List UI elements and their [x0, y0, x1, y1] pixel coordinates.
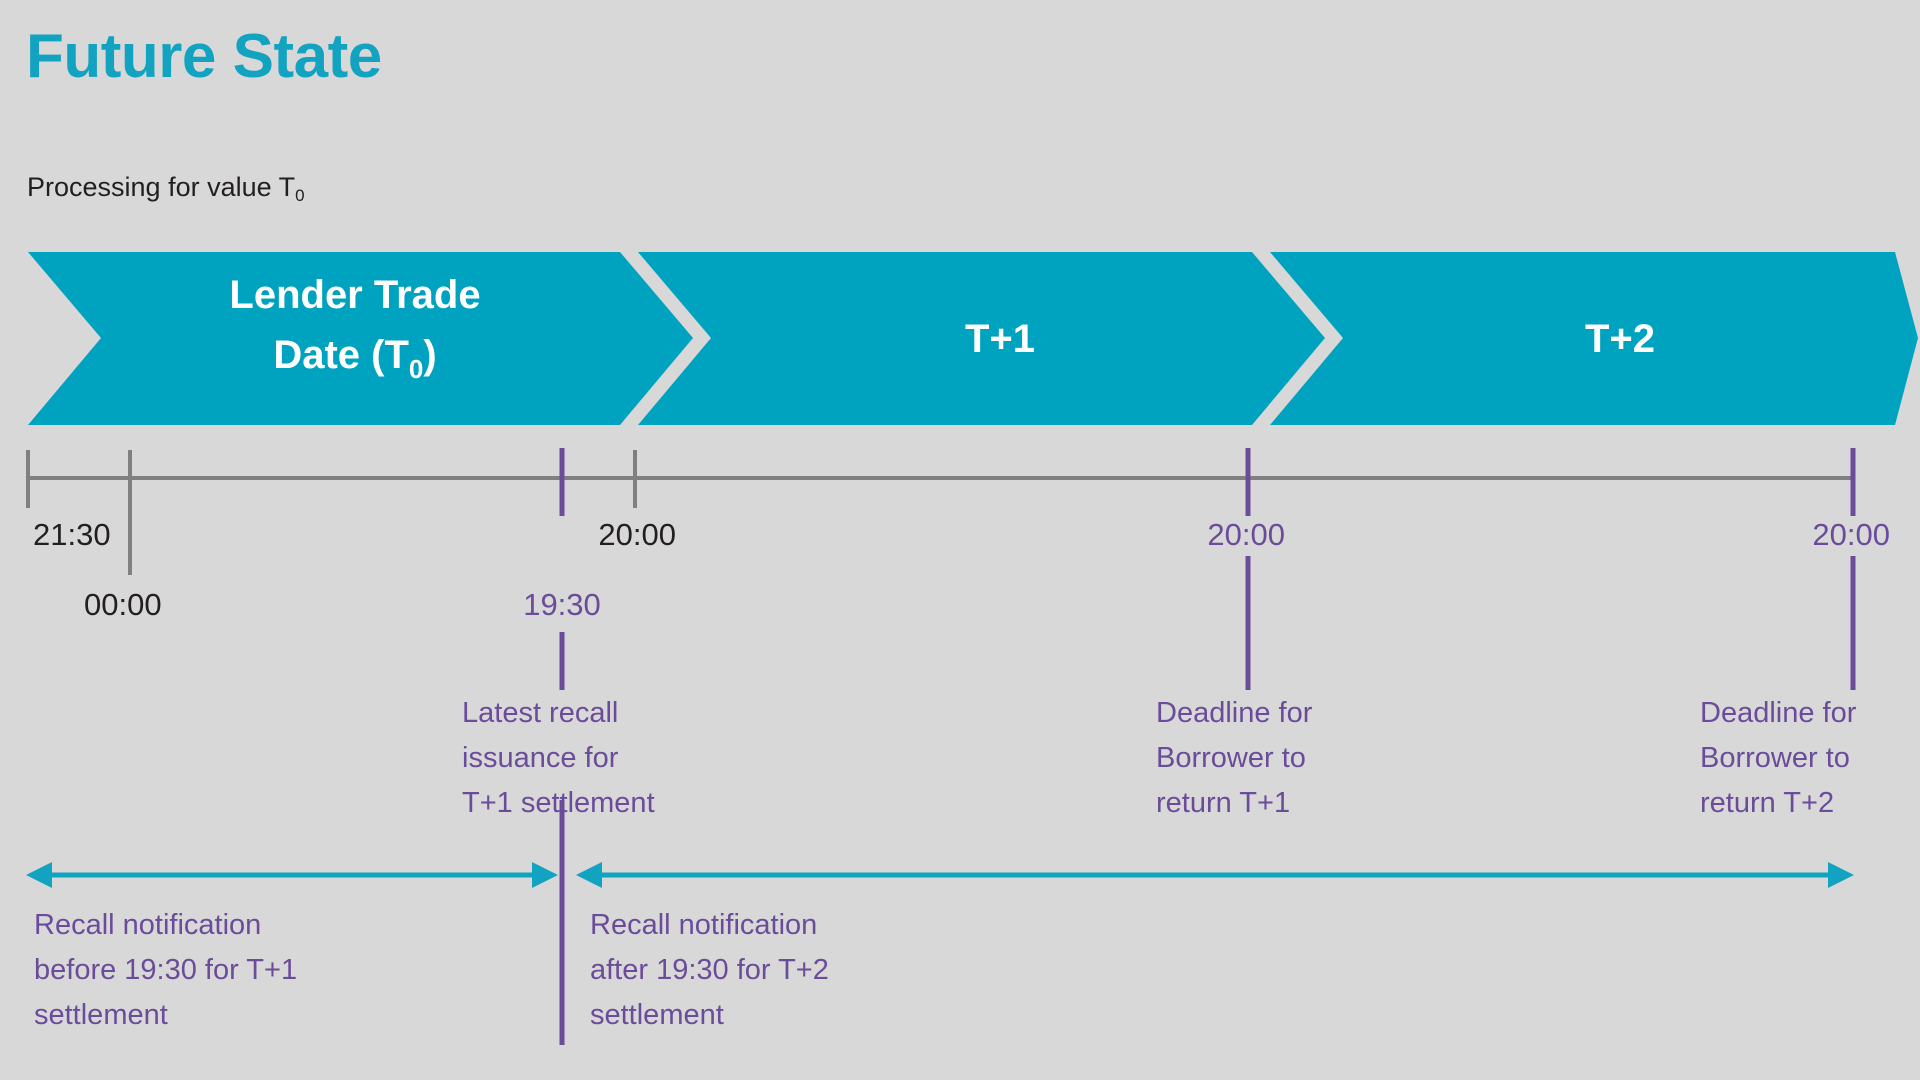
range-line: after 19:30 for T+2	[590, 954, 829, 986]
timeline-diagram: Lender Trade Date (T0) T+1 T+2 21:30 20:…	[0, 0, 1920, 1080]
range-label-before-1930: Recall notification before 19:30 for T+1…	[34, 909, 305, 1031]
range-line: settlement	[34, 999, 168, 1031]
milestone-label-latest-recall: Latest recall issuance for T+1 settlemen…	[462, 697, 655, 819]
chevron-phase-1-label-line2-sub: 0	[409, 354, 423, 384]
milestone-line: Borrower to	[1700, 742, 1850, 774]
tick-label-2000-t2: 20:00	[1812, 517, 1890, 552]
tick-label-2000-t0: 20:00	[598, 517, 676, 552]
milestone-line: Latest recall	[462, 697, 618, 729]
range-line: settlement	[590, 999, 724, 1031]
chevron-phase-1-label-line2-suffix: )	[423, 333, 436, 377]
milestone-annotations: Latest recall issuance for T+1 settlemen…	[462, 556, 1864, 819]
range-label-after-1930: Recall notification after 19:30 for T+2 …	[590, 909, 837, 1031]
phase-banner: Lender Trade Date (T0) T+1 T+2	[28, 252, 1918, 425]
range-arrow-head-right-2	[1828, 862, 1854, 888]
range-annotations: Recall notification before 19:30 for T+1…	[34, 909, 837, 1031]
milestone-line: issuance for	[462, 742, 619, 774]
range-arrow-head-right-1	[532, 862, 558, 888]
range-arrow-head-left-1	[26, 862, 52, 888]
chevron-phase-1-label-line2-prefix: Date (T	[273, 333, 409, 377]
milestone-line: return T+1	[1156, 787, 1290, 819]
tick-label-0000: 00:00	[84, 587, 162, 622]
milestone-line: T+1 settlement	[462, 787, 655, 819]
tick-label-1930: 19:30	[523, 587, 601, 622]
milestone-line: Borrower to	[1156, 742, 1306, 774]
range-line: Recall notification	[590, 909, 817, 941]
chevron-phase-1-label-line1: Lender Trade	[229, 273, 480, 317]
diagram-canvas: Future State Processing for value T0 Len…	[0, 0, 1920, 1080]
range-line: Recall notification	[34, 909, 261, 941]
milestone-line: Deadline for	[1700, 697, 1857, 729]
timeline-axis: 21:30 20:00 20:00 20:00 00:00 19:30	[28, 448, 1890, 622]
range-arrows	[26, 862, 1854, 888]
milestone-label-deadline-t2: Deadline for Borrower to return T+2	[1700, 697, 1864, 819]
chevron-phase-2-label: T+1	[965, 317, 1035, 361]
milestone-label-deadline-t1: Deadline for Borrower to return T+1	[1156, 697, 1320, 819]
tick-label-2130: 21:30	[33, 517, 111, 552]
range-line: before 19:30 for T+1	[34, 954, 297, 986]
tick-label-2000-t1: 20:00	[1207, 517, 1285, 552]
milestone-line: Deadline for	[1156, 697, 1313, 729]
range-arrow-head-left-2	[576, 862, 602, 888]
milestone-line: return T+2	[1700, 787, 1834, 819]
chevron-phase-3-label: T+2	[1585, 317, 1655, 361]
